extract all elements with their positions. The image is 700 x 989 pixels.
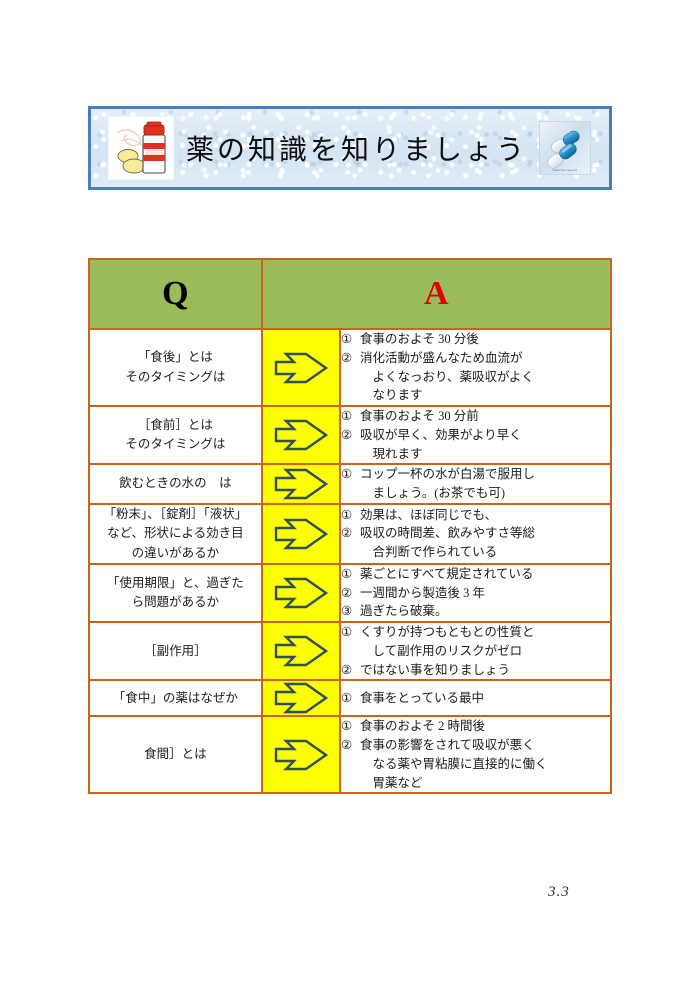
answer-line: ましょう。(お茶でも可) [360,484,610,503]
answer-item: ②吸収が早く、効果がより早く現れます [341,426,610,464]
answer-text: 食事のおよそ 2 時間後 [360,717,610,736]
answer-number: ② [341,584,355,603]
answer-line: なります [360,386,610,405]
answer-item: ①食事のおよそ 30 分前 [341,407,610,426]
document-page: 薬の知識を知りましょう [0,0,700,989]
answer-cell: ①効果は、ほぼ同じでも、②吸収の時間差、飲みやすさ等総合判断で作られている [340,504,611,564]
answer-line: 効果は、ほぼ同じでも、 [360,508,497,522]
answer-number: ① [341,407,355,426]
answer-text: 食事のおよそ 30 分後 [360,330,610,349]
answer-cell: ①食事のおよそ 2 時間後②食事の影響をされて吸収が悪くなる薬や胃粘膜に直接的に… [340,716,611,793]
answer-item: ①食事をとっている最中 [341,689,610,708]
right-arrow-icon [272,467,330,501]
question-line: 「食後」とは [90,348,261,367]
answer-line: 合判断で作られている [360,543,610,562]
arrow-cell [262,716,340,793]
answer-line: よくなっおり、薬吸収がよく [360,368,610,387]
answer-item: ②消化活動が盛んなため血流がよくなっおり、薬吸収がよくなります [341,349,610,405]
answer-line: 吸収が早く、効果がより早く [360,428,522,442]
qa-table: Q A 「食後」とはそのタイミングは①食事のおよそ 30 分後②消化活動が盛んな… [88,258,612,794]
question-line: 「使用期限」と、過ぎた [90,574,261,593]
answer-number: ① [341,506,355,525]
answer-line: 過ぎたら破棄。 [360,604,448,618]
answer-text: 吸収の時間差、飲みやすさ等総合判断で作られている [360,524,610,562]
answer-cell: ①薬ごとにすべて規定されている②一週間から製造後 3 年③過ぎたら破棄。 [340,564,611,622]
question-line: 「食中」の薬はなぜか [90,689,261,708]
answer-item: ①食事のおよそ 2 時間後 [341,717,610,736]
question-line: 「粉末」、［錠剤］「液状」 [90,505,261,524]
question-cell: ［食前］とはそのタイミングは [89,406,262,464]
right-arrow-icon [272,517,330,551]
question-line: ［副作用］ [90,642,261,661]
right-arrow-icon [272,418,330,452]
answer-text: 薬ごとにすべて規定されている [360,565,610,584]
answer-text: くすりが持つもともとの性質として副作用のリスクがゼロ [360,623,610,661]
table-row: ［副作用］①くすりが持つもともとの性質として副作用のリスクがゼロ②ではない事を知… [89,622,611,680]
answer-text: 食事のおよそ 30 分前 [360,407,610,426]
arrow-cell [262,622,340,680]
table-row: 「食後」とはそのタイミングは①食事のおよそ 30 分後②消化活動が盛んなため血流… [89,329,611,406]
answer-number: ① [341,717,355,736]
column-header-a: A [262,259,611,329]
arrow-cell [262,680,340,716]
answer-line: 薬ごとにすべて規定されている [360,567,533,581]
page-mark: 3.3 [548,884,608,901]
answer-item: ②ではない事を知りましょう [341,661,610,680]
answer-cell: ①食事をとっている最中 [340,680,611,716]
answer-item: ①食事のおよそ 30 分後 [341,330,610,349]
question-cell: 「食中」の薬はなぜか [89,680,262,716]
answer-text: 一週間から製造後 3 年 [360,584,610,603]
answer-text: 過ぎたら破棄。 [360,602,610,621]
answer-cell: ①食事のおよそ 30 分後②消化活動が盛んなため血流がよくなっおり、薬吸収がよく… [340,329,611,406]
question-line: 食間］とは [90,745,261,764]
answer-item: ①くすりが持つもともとの性質として副作用のリスクがゼロ [341,623,610,661]
answer-line: ではない事を知りましょう [360,663,510,677]
capsules-photo: medicine capsule [539,121,591,175]
question-line: など、形状による効き目 [90,524,261,543]
answer-number: ① [341,330,355,349]
table-header-row: Q A [89,259,611,329]
answer-number: ② [341,661,355,680]
question-cell: 「粉末」、［錠剤］「液状」など、形状による効き目の違いがあるか [89,504,262,564]
answer-line: 食事をとっている最中 [360,691,484,705]
header-banner: 薬の知識を知りましょう [88,106,612,190]
question-line: 飲むときの水の は [90,474,261,493]
right-arrow-icon [272,634,330,668]
answer-item: ②一週間から製造後 3 年 [341,584,610,603]
answer-item: ②吸収の時間差、飲みやすさ等総合判断で作られている [341,524,610,562]
question-line: の違いがあるか [90,544,261,563]
question-line: ら問題があるか [90,593,261,612]
arrow-cell [262,464,340,504]
answer-text: 吸収が早く、効果がより早く現れます [360,426,610,464]
answer-line: 食事のおよそ 2 時間後 [360,719,485,733]
table-row: 「使用期限」と、過ぎたら問題があるか①薬ごとにすべて規定されている②一週間から製… [89,564,611,622]
answer-number: ② [341,349,355,368]
question-cell: 食間］とは [89,716,262,793]
arrow-cell [262,406,340,464]
answer-item: ②食事の影響をされて吸収が悪くなる薬や胃粘膜に直接的に働く胃薬など [341,736,610,792]
arrow-cell [262,564,340,622]
question-line: ［食前］とは [90,416,261,435]
question-cell: 飲むときの水の は [89,464,262,504]
right-arrow-icon [272,351,330,385]
answer-line: 吸収の時間差、飲みやすさ等総 [360,526,535,540]
question-cell: 「食後」とはそのタイミングは [89,329,262,406]
answer-line: 食事の影響をされて吸収が悪く [360,738,535,752]
answer-text: 効果は、ほぼ同じでも、 [360,506,610,525]
answer-line: なる薬や胃粘膜に直接的に働く [360,755,610,774]
question-cell: ［副作用］ [89,622,262,680]
answer-number: ② [341,736,355,755]
answer-line: 食事のおよそ 30 分前 [360,409,479,423]
question-cell: 「使用期限」と、過ぎたら問題があるか [89,564,262,622]
question-line: そのタイミングは [90,435,261,454]
answer-line: コップ一杯の水が白湯で服用し [360,467,535,481]
answer-number: ① [341,465,355,484]
column-header-q: Q [89,259,262,329]
answer-line: 一週間から製造後 3 年 [360,586,485,600]
question-line: そのタイミングは [90,368,261,387]
table-body: 「食後」とはそのタイミングは①食事のおよそ 30 分後②消化活動が盛んなため血流… [89,329,611,793]
answer-item: ①薬ごとにすべて規定されている [341,565,610,584]
answer-item: ①効果は、ほぼ同じでも、 [341,506,610,525]
answer-number: ③ [341,602,355,621]
blue-capsules-svg [540,122,590,174]
answer-line: 胃薬など [360,774,610,793]
table-row: 「食中」の薬はなぜか①食事をとっている最中 [89,680,611,716]
answer-number: ② [341,524,355,543]
answer-line: して副作用のリスクがゼロ [360,642,610,661]
answer-text: 食事をとっている最中 [360,689,610,708]
answer-item: ①コップ一杯の水が白湯で服用しましょう。(お茶でも可) [341,465,610,503]
answer-text: コップ一杯の水が白湯で服用しましょう。(お茶でも可) [360,465,610,503]
medicine-bottle-icon [108,116,174,180]
answer-number: ① [341,623,355,642]
answer-text: 食事の影響をされて吸収が悪くなる薬や胃粘膜に直接的に働く胃薬など [360,736,610,792]
answer-cell: ①くすりが持つもともとの性質として副作用のリスクがゼロ②ではない事を知りましょう [340,622,611,680]
answer-text: ではない事を知りましょう [360,661,610,680]
answer-number: ① [341,689,355,708]
table-row: 「粉末」、［錠剤］「液状」など、形状による効き目の違いがあるか①効果は、ほぼ同じ… [89,504,611,564]
answer-text: 消化活動が盛んなため血流がよくなっおり、薬吸収がよくなります [360,349,610,405]
right-arrow-icon [272,576,330,610]
answer-line: 消化活動が盛んなため血流が [360,351,523,365]
right-arrow-icon [272,681,330,715]
arrow-cell [262,329,340,406]
answer-cell: ①コップ一杯の水が白湯で服用しましょう。(お茶でも可) [340,464,611,504]
arrow-cell [262,504,340,564]
table-row: 飲むときの水の は①コップ一杯の水が白湯で服用しましょう。(お茶でも可) [89,464,611,504]
answer-line: くすりが持つもともとの性質と [360,625,534,639]
answer-number: ① [341,565,355,584]
answer-cell: ①食事のおよそ 30 分前②吸収が早く、効果がより早く現れます [340,406,611,464]
medicine-bottle-illustration-svg [109,117,173,179]
capsule-photo-caption: medicine capsule [540,169,590,172]
table-row: 食間］とは①食事のおよそ 2 時間後②食事の影響をされて吸収が悪くなる薬や胃粘膜… [89,716,611,793]
table-row: ［食前］とはそのタイミングは①食事のおよそ 30 分前②吸収が早く、効果がより早… [89,406,611,464]
answer-line: 食事のおよそ 30 分後 [360,332,479,346]
answer-item: ③過ぎたら破棄。 [341,602,610,621]
answer-number: ② [341,426,355,445]
answer-line: 現れます [360,445,610,464]
banner-title: 薬の知識を知りましょう [174,128,539,168]
right-arrow-icon [272,738,330,772]
